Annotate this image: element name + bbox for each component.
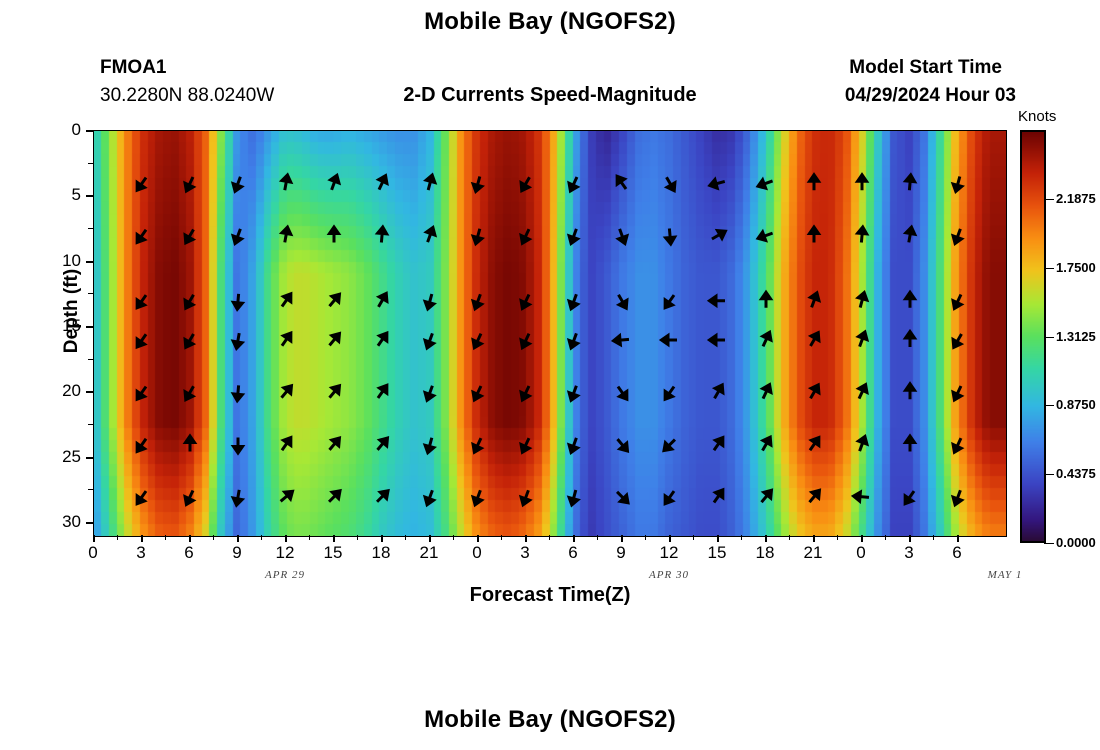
x-axis-tick xyxy=(237,535,239,542)
x-axis-tick-label: 15 xyxy=(313,543,353,563)
colorbar-tick xyxy=(1044,405,1054,406)
x-axis-tick xyxy=(717,535,719,542)
page-title-top: Mobile Bay (NGOFS2) xyxy=(0,8,1100,36)
x-axis-minor-tick xyxy=(549,535,550,540)
speed-magnitude-heatmap xyxy=(94,131,1006,536)
x-axis-tick xyxy=(93,535,95,542)
x-axis-tick xyxy=(141,535,143,542)
x-axis-tick-label: 18 xyxy=(361,543,401,563)
y-axis-tick-label: 5 xyxy=(41,185,81,205)
y-axis-tick-label: 0 xyxy=(41,120,81,140)
colorbar-tick-label: 1.3125 xyxy=(1056,329,1096,344)
current-profile-plot xyxy=(93,130,1007,537)
colorbar-gradient xyxy=(1020,130,1046,543)
y-axis-minor-tick xyxy=(88,522,93,523)
x-axis-minor-tick xyxy=(837,535,838,540)
y-axis-minor-tick xyxy=(88,359,93,360)
x-axis-minor-tick xyxy=(933,535,934,540)
colorbar-tick xyxy=(1044,268,1054,269)
y-axis-minor-tick xyxy=(88,489,93,490)
x-axis-date-label: APR 29 xyxy=(240,569,330,581)
x-axis-minor-tick xyxy=(165,535,166,540)
model-start-time-value: 04/29/2024 Hour 03 xyxy=(845,85,1016,107)
x-axis-title: Forecast Time(Z) xyxy=(0,584,1100,607)
x-axis-tick xyxy=(861,535,863,542)
x-axis-tick-label: 9 xyxy=(217,543,257,563)
colorbar-tick xyxy=(1044,337,1054,338)
x-axis-tick xyxy=(765,535,767,542)
colorbar-title: Knots xyxy=(1018,108,1056,125)
x-axis-tick xyxy=(285,535,287,542)
x-axis-minor-tick xyxy=(453,535,454,540)
x-axis-minor-tick xyxy=(741,535,742,540)
x-axis-tick-label: 3 xyxy=(121,543,161,563)
x-axis-tick-label: 6 xyxy=(937,543,977,563)
x-axis-tick xyxy=(525,535,527,542)
x-axis-minor-tick xyxy=(789,535,790,540)
x-axis-tick-label: 0 xyxy=(457,543,497,563)
colorbar xyxy=(1020,130,1046,543)
x-axis-tick xyxy=(189,535,191,542)
x-axis-minor-tick xyxy=(597,535,598,540)
x-axis-minor-tick xyxy=(357,535,358,540)
x-axis-tick-label: 6 xyxy=(169,543,209,563)
y-axis-minor-tick xyxy=(88,391,93,392)
y-axis-tick-label: 30 xyxy=(41,512,81,532)
y-axis-minor-tick xyxy=(88,163,93,164)
y-axis-minor-tick xyxy=(88,195,93,196)
colorbar-tick-label: 1.7500 xyxy=(1056,260,1096,275)
y-axis-minor-tick xyxy=(88,228,93,229)
y-axis-minor-tick xyxy=(88,293,93,294)
colorbar-tick-label: 2.1875 xyxy=(1056,191,1096,206)
y-axis-minor-tick xyxy=(88,130,93,131)
x-axis-tick xyxy=(621,535,623,542)
x-axis-tick xyxy=(477,535,479,542)
x-axis-tick xyxy=(333,535,335,542)
x-axis-tick-label: 9 xyxy=(601,543,641,563)
y-axis-minor-tick xyxy=(88,424,93,425)
x-axis-tick xyxy=(813,535,815,542)
x-axis-minor-tick xyxy=(117,535,118,540)
x-axis-tick xyxy=(669,535,671,542)
model-start-time-label: Model Start Time xyxy=(849,57,1002,79)
y-axis-minor-tick xyxy=(88,457,93,458)
x-axis-tick-label: 6 xyxy=(553,543,593,563)
x-axis-date-label: MAY 1 xyxy=(960,569,1050,581)
x-axis-tick-label: 15 xyxy=(697,543,737,563)
x-axis-tick-label: 18 xyxy=(745,543,785,563)
x-axis-tick-label: 3 xyxy=(505,543,545,563)
y-axis-title: Depth (ft) xyxy=(61,231,83,391)
x-axis-minor-tick xyxy=(213,535,214,540)
x-axis-tick xyxy=(909,535,911,542)
x-axis-minor-tick xyxy=(261,535,262,540)
x-axis-tick xyxy=(429,535,431,542)
x-axis-tick xyxy=(381,535,383,542)
x-axis-tick-label: 12 xyxy=(649,543,689,563)
page-title-bottom: Mobile Bay (NGOFS2) xyxy=(0,706,1100,734)
colorbar-tick xyxy=(1044,474,1054,475)
station-id: FMOA1 xyxy=(100,57,167,79)
colorbar-tick-label: 0.8750 xyxy=(1056,397,1096,412)
x-axis-tick-label: 3 xyxy=(889,543,929,563)
x-axis-tick-label: 0 xyxy=(841,543,881,563)
x-axis-tick xyxy=(573,535,575,542)
x-axis-minor-tick xyxy=(885,535,886,540)
x-axis-minor-tick xyxy=(501,535,502,540)
y-axis-minor-tick xyxy=(88,326,93,327)
x-axis-minor-tick xyxy=(645,535,646,540)
x-axis-tick-label: 21 xyxy=(793,543,833,563)
x-axis-tick xyxy=(957,535,959,542)
y-axis-tick-label: 25 xyxy=(41,447,81,467)
x-axis-minor-tick xyxy=(693,535,694,540)
x-axis-tick-label: 12 xyxy=(265,543,305,563)
y-axis-minor-tick xyxy=(88,261,93,262)
x-axis-date-label: APR 30 xyxy=(624,569,714,581)
x-axis-minor-tick xyxy=(309,535,310,540)
colorbar-tick xyxy=(1044,199,1054,200)
colorbar-tick xyxy=(1044,543,1054,544)
x-axis-minor-tick xyxy=(405,535,406,540)
colorbar-tick-label: 0.0000 xyxy=(1056,535,1096,550)
colorbar-tick-label: 0.4375 xyxy=(1056,466,1096,481)
x-axis-tick-label: 0 xyxy=(73,543,113,563)
x-axis-tick-label: 21 xyxy=(409,543,449,563)
